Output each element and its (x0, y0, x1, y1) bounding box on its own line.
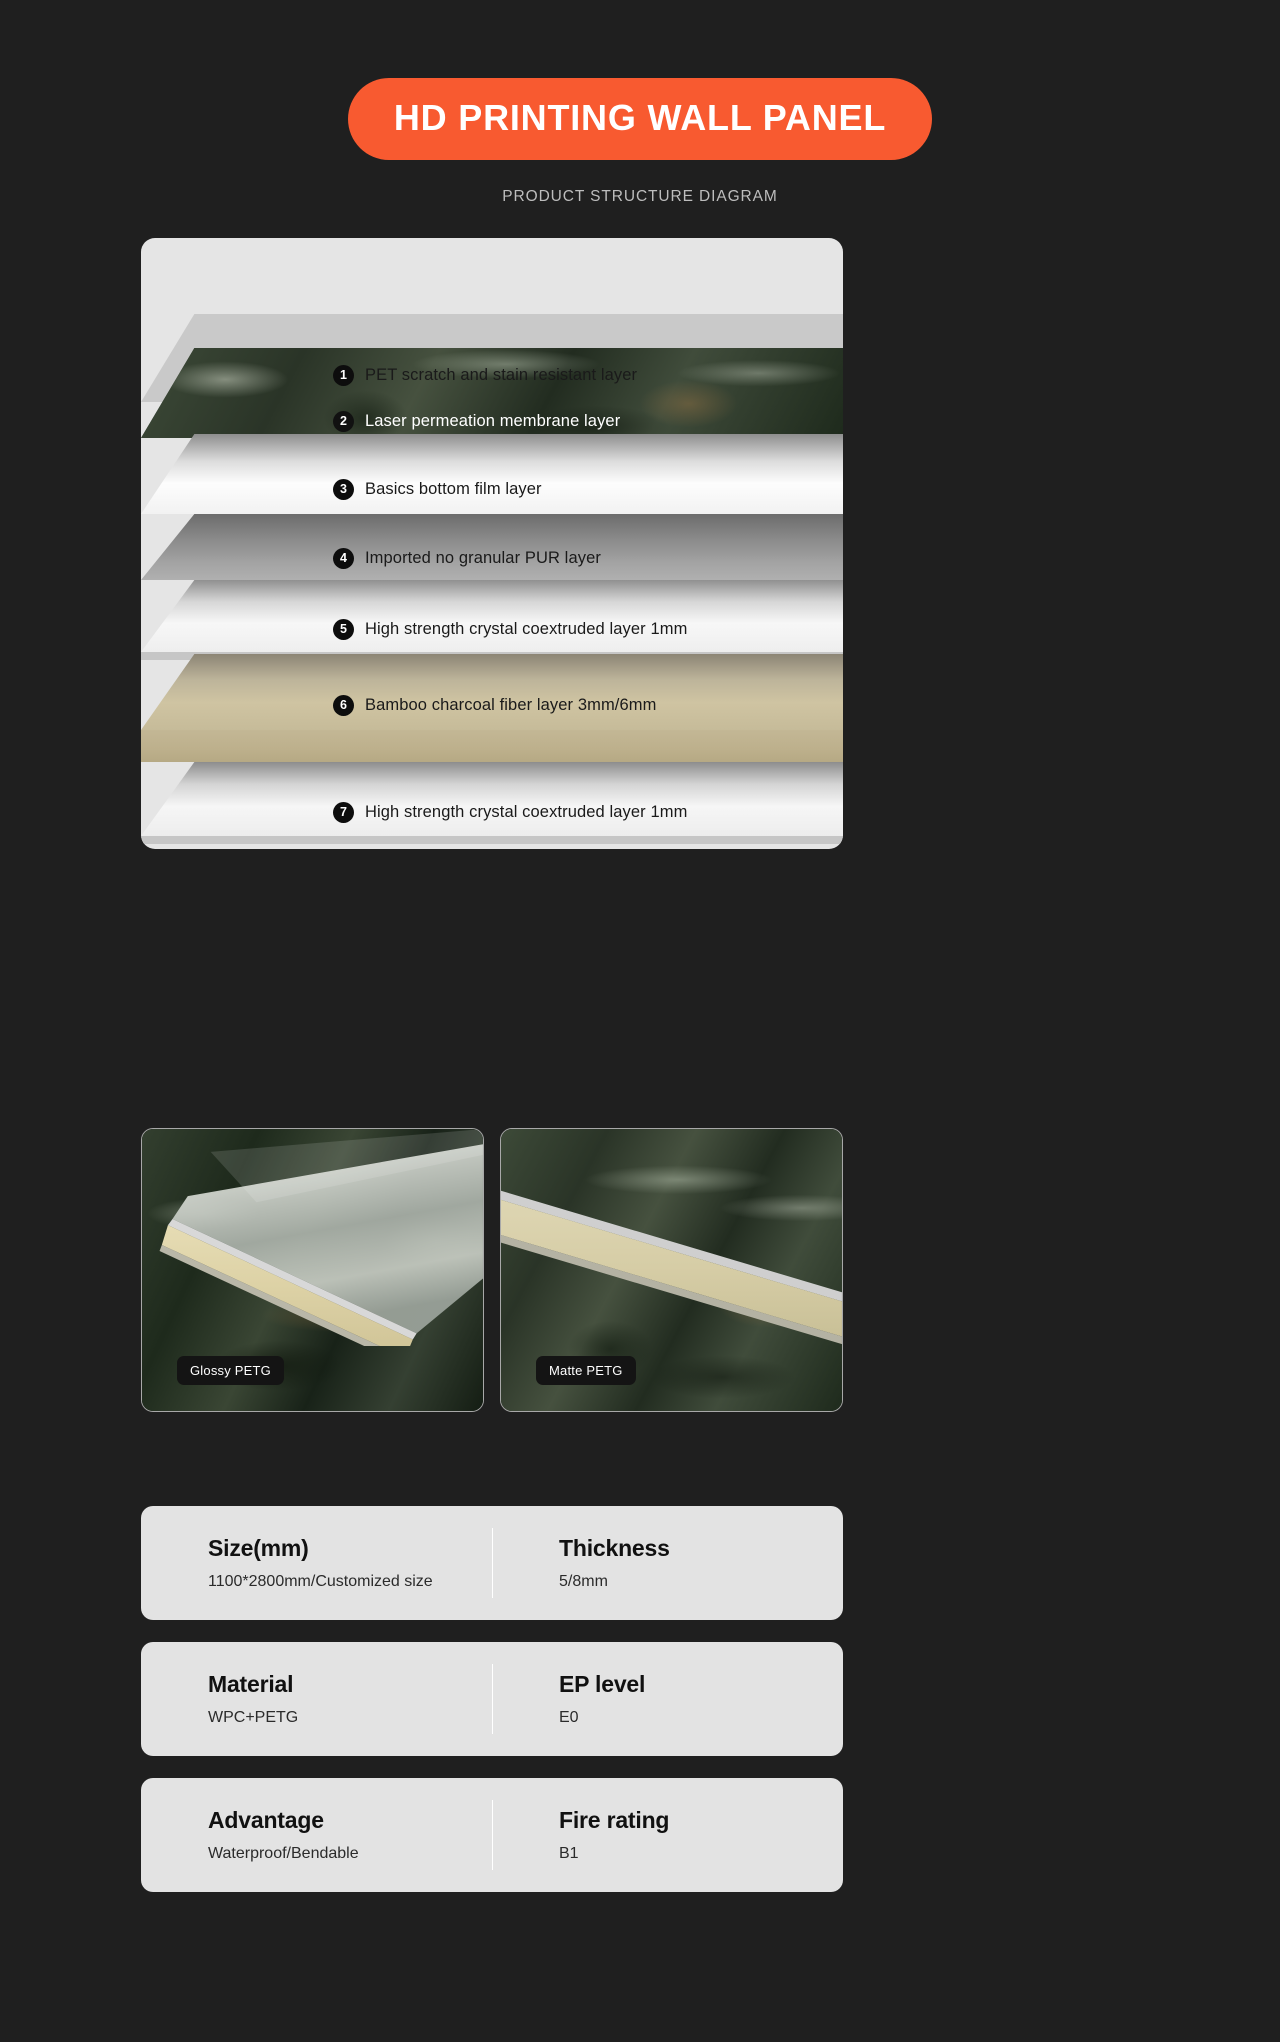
structure-layer-2: 2 Laser permeation membrane layer (141, 348, 843, 438)
spec-label: Fire rating (559, 1807, 843, 1834)
layer-label-text: Bamboo charcoal fiber layer 3mm/6mm (365, 696, 656, 715)
layer-1-label: 1 PET scratch and stain resistant layer (333, 365, 637, 386)
layer-5-label: 5 High strength crystal coextruded layer… (333, 619, 687, 640)
spec-value: E0 (559, 1709, 843, 1727)
layer-number-badge: 1 (333, 365, 354, 386)
spec-label: EP level (559, 1671, 843, 1698)
layer-number-badge: 4 (333, 548, 354, 569)
layer-label-text: Imported no granular PUR layer (365, 549, 601, 568)
spec-label: Thickness (559, 1535, 843, 1562)
structure-layer-3: 3 Basics bottom film layer (141, 434, 843, 514)
layer-7-edge (141, 836, 843, 844)
structure-layer-5: 5 High strength crystal coextruded layer… (141, 580, 843, 652)
spec-divider (492, 1800, 493, 1870)
layer-4-label: 4 Imported no granular PUR layer (333, 548, 601, 569)
panel-corner-illustration-matte (501, 1129, 842, 1346)
product-photo-row: Glossy PETG Matte PETG (141, 1128, 843, 1412)
layer-3-sheet (141, 434, 843, 514)
spec-card-list: Size(mm) 1100*2800mm/Customized size Thi… (141, 1506, 843, 1914)
layer-7-sheet (141, 762, 843, 836)
layer-number-badge: 3 (333, 479, 354, 500)
layer-number-badge: 7 (333, 802, 354, 823)
product-structure-page: HD PRINTING WALL PANEL PRODUCT STRUCTURE… (0, 0, 1280, 2042)
spec-cell-material: Material WPC+PETG (141, 1671, 492, 1727)
spec-cell-eplevel: EP level E0 (492, 1671, 843, 1727)
spec-card-advantage-firerating: Advantage Waterproof/Bendable Fire ratin… (141, 1778, 843, 1892)
layer-stack: 1 PET scratch and stain resistant layer … (141, 238, 843, 849)
layer-label-text: High strength crystal coextruded layer 1… (365, 620, 687, 639)
layer-5-sheet (141, 580, 843, 652)
structure-layer-4: 4 Imported no granular PUR layer (141, 514, 843, 580)
spec-value: 5/8mm (559, 1573, 843, 1591)
spec-cell-size: Size(mm) 1100*2800mm/Customized size (141, 1535, 492, 1591)
spec-label: Material (208, 1671, 492, 1698)
spec-label: Size(mm) (208, 1535, 492, 1562)
spec-value: 1100*2800mm/Customized size (208, 1573, 492, 1591)
spec-value: B1 (559, 1845, 843, 1863)
layer-6-sheet (141, 654, 843, 730)
layer-label-text: Laser permeation membrane layer (365, 412, 620, 431)
layer-7-label: 7 High strength crystal coextruded layer… (333, 802, 687, 823)
spec-card-size-thickness: Size(mm) 1100*2800mm/Customized size Thi… (141, 1506, 843, 1620)
spec-label: Advantage (208, 1807, 492, 1834)
panel-corner-illustration-glossy (142, 1129, 483, 1346)
layer-number-badge: 2 (333, 411, 354, 432)
layer-label-text: PET scratch and stain resistant layer (365, 366, 637, 385)
spec-cell-advantage: Advantage Waterproof/Bendable (141, 1807, 492, 1863)
layer-number-badge: 6 (333, 695, 354, 716)
structure-diagram-panel: 1 PET scratch and stain resistant layer … (141, 238, 843, 849)
layer-6-edge (141, 730, 843, 762)
spec-card-material-eplevel: Material WPC+PETG EP level E0 (141, 1642, 843, 1756)
photo-tag-matte: Matte PETG (536, 1356, 636, 1385)
spec-value: WPC+PETG (208, 1709, 492, 1727)
slab-core-edge (501, 1198, 842, 1337)
structure-layer-6: 6 Bamboo charcoal fiber layer 3mm/6mm (141, 654, 843, 730)
structure-layer-7: 7 High strength crystal coextruded layer… (141, 762, 843, 836)
layer-6-label: 6 Bamboo charcoal fiber layer 3mm/6mm (333, 695, 656, 716)
spec-value: Waterproof/Bendable (208, 1845, 492, 1863)
layer-number-badge: 5 (333, 619, 354, 640)
spec-cell-thickness: Thickness 5/8mm (492, 1535, 843, 1591)
layer-label-text: High strength crystal coextruded layer 1… (365, 803, 687, 822)
page-title: HD PRINTING WALL PANEL (348, 78, 932, 160)
spec-divider (492, 1664, 493, 1734)
page-subtitle: PRODUCT STRUCTURE DIAGRAM (0, 188, 1280, 206)
page-header: HD PRINTING WALL PANEL PRODUCT STRUCTURE… (0, 0, 1280, 206)
layer-2-label: 2 Laser permeation membrane layer (333, 411, 620, 432)
photo-tag-glossy: Glossy PETG (177, 1356, 284, 1385)
spec-divider (492, 1528, 493, 1598)
spec-cell-firerating: Fire rating B1 (492, 1807, 843, 1863)
layer-3-label: 3 Basics bottom film layer (333, 479, 542, 500)
product-photo-card-glossy[interactable]: Glossy PETG (141, 1128, 484, 1412)
layer-label-text: Basics bottom film layer (365, 480, 542, 499)
product-photo-card-matte[interactable]: Matte PETG (500, 1128, 843, 1412)
